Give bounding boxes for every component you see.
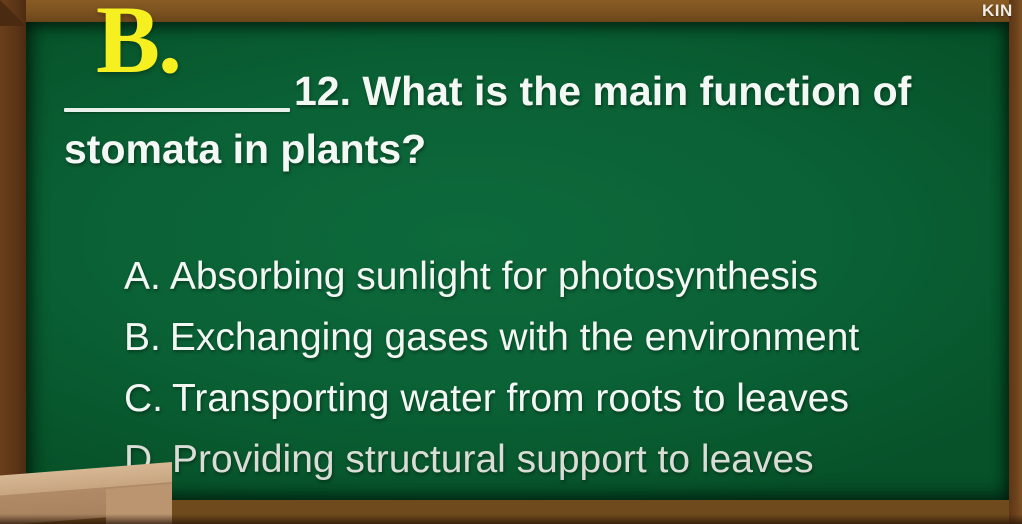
option-d-text: Providing structural support to leaves xyxy=(172,438,814,481)
channel-watermark: KIN xyxy=(982,1,1022,21)
chalkboard-surface: 12. What is the main function of stomata… xyxy=(26,22,1009,500)
option-b-letter: B. xyxy=(124,316,161,359)
board-frame-left-bevel xyxy=(0,0,26,26)
option-a[interactable]: A.Absorbing sunlight for photosynthesis xyxy=(124,246,1022,307)
option-b[interactable]: B.Exchanging gases with the environment xyxy=(124,307,1022,368)
option-a-letter: A. xyxy=(124,255,161,298)
question-text: 12. What is the main function of stomata… xyxy=(64,62,994,178)
handwritten-answer-mark: B. xyxy=(96,0,180,88)
option-c-text: Transporting water from roots to leaves xyxy=(172,377,849,420)
option-d[interactable]: D.Providing structural support to leaves xyxy=(124,429,1022,490)
option-c[interactable]: C.Transporting water from roots to leave… xyxy=(124,368,1022,429)
board-bottom-shadow xyxy=(0,514,1022,524)
chalkboard-quiz-screen: 12. What is the main function of stomata… xyxy=(0,0,1022,524)
option-c-letter: C. xyxy=(124,377,163,420)
options-list: A.Absorbing sunlight for photosynthesis … xyxy=(124,246,1022,490)
option-a-text: Absorbing sunlight for photosynthesis xyxy=(170,255,818,298)
option-b-text: Exchanging gases with the environment xyxy=(170,316,859,359)
board-frame-left xyxy=(0,0,26,524)
